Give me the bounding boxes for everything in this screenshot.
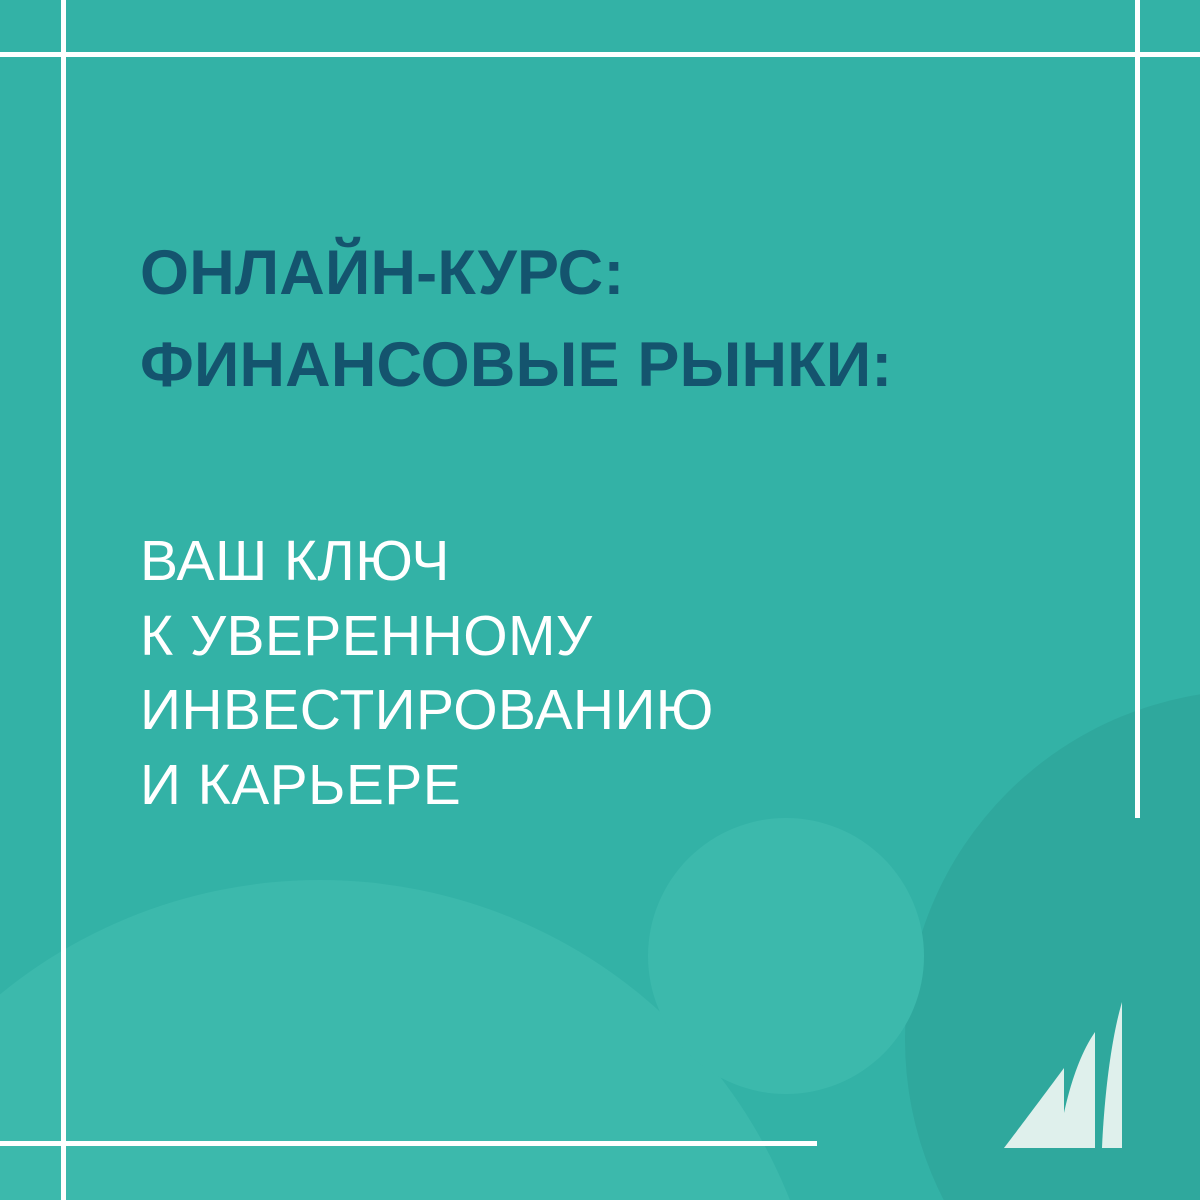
frame-line-horizontal-top bbox=[0, 52, 1200, 57]
frame-line-vertical-left bbox=[61, 0, 66, 1200]
page-title: ОНЛАЙН-КУРС: ФИНАНСОВЫЕ РЫНКИ: bbox=[140, 228, 1040, 412]
frame-line-horizontal-bottom bbox=[0, 1141, 817, 1146]
sails-logo-icon bbox=[1002, 1000, 1152, 1152]
text-block: ОНЛАЙН-КУРС: ФИНАНСОВЫЕ РЫНКИ: ВАШ КЛЮЧ … bbox=[140, 228, 1040, 823]
page-subtitle: ВАШ КЛЮЧ К УВЕРЕННОМУ ИНВЕСТИРОВАНИЮ И К… bbox=[140, 524, 1040, 823]
background-circle-small-center bbox=[648, 818, 924, 1094]
promo-poster: ОНЛАЙН-КУРС: ФИНАНСОВЫЕ РЫНКИ: ВАШ КЛЮЧ … bbox=[0, 0, 1200, 1200]
sails-logo bbox=[1002, 1000, 1152, 1152]
frame-line-vertical-right bbox=[1135, 0, 1140, 818]
